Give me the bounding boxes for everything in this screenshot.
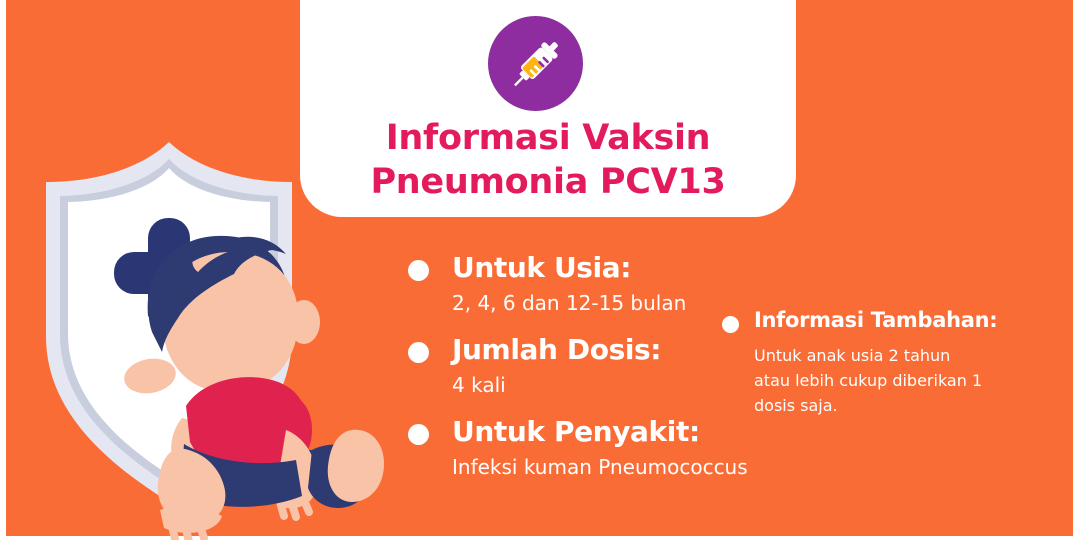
fact-item-usia: Untuk Usia: 2, 4, 6 dan 12-15 bulan xyxy=(402,248,732,330)
bullet-icon xyxy=(722,316,739,333)
fact-label-usia: Untuk Usia: xyxy=(452,248,732,288)
fact-value-dosis: 4 kali xyxy=(452,371,732,399)
extra-info-label: Informasi Tambahan: xyxy=(754,305,1022,335)
page-title: Informasi Vaksin Pneumonia PCV13 xyxy=(300,116,796,204)
bullet-icon xyxy=(408,424,429,445)
vaccine-info-poster: Informasi Vaksin Pneumonia PCV13 Untuk U… xyxy=(0,0,1079,540)
fact-item-dosis: Jumlah Dosis: 4 kali xyxy=(402,330,732,412)
crawling-child-illustration xyxy=(121,236,384,540)
bullet-icon xyxy=(408,260,429,281)
title-line-2: Pneumonia PCV13 xyxy=(300,160,796,204)
title-card: Informasi Vaksin Pneumonia PCV13 xyxy=(300,0,796,217)
syringe-icon xyxy=(488,16,583,111)
extra-info-block: Informasi Tambahan: Untuk anak usia 2 ta… xyxy=(722,305,1022,418)
fact-value-usia: 2, 4, 6 dan 12-15 bulan xyxy=(452,289,732,317)
fact-item-penyakit: Untuk Penyakit: Infeksi kuman Pneumococc… xyxy=(402,412,732,494)
fact-label-dosis: Jumlah Dosis: xyxy=(452,330,732,370)
fact-value-penyakit: Infeksi kuman Pneumococcus xyxy=(452,453,732,481)
fact-label-penyakit: Untuk Penyakit: xyxy=(452,412,732,452)
bullet-icon xyxy=(408,342,429,363)
facts-list: Untuk Usia: 2, 4, 6 dan 12-15 bulan Juml… xyxy=(402,248,732,494)
extra-info-body: Untuk anak usia 2 tahun atau lebih cukup… xyxy=(754,343,989,418)
title-line-1: Informasi Vaksin xyxy=(300,116,796,160)
